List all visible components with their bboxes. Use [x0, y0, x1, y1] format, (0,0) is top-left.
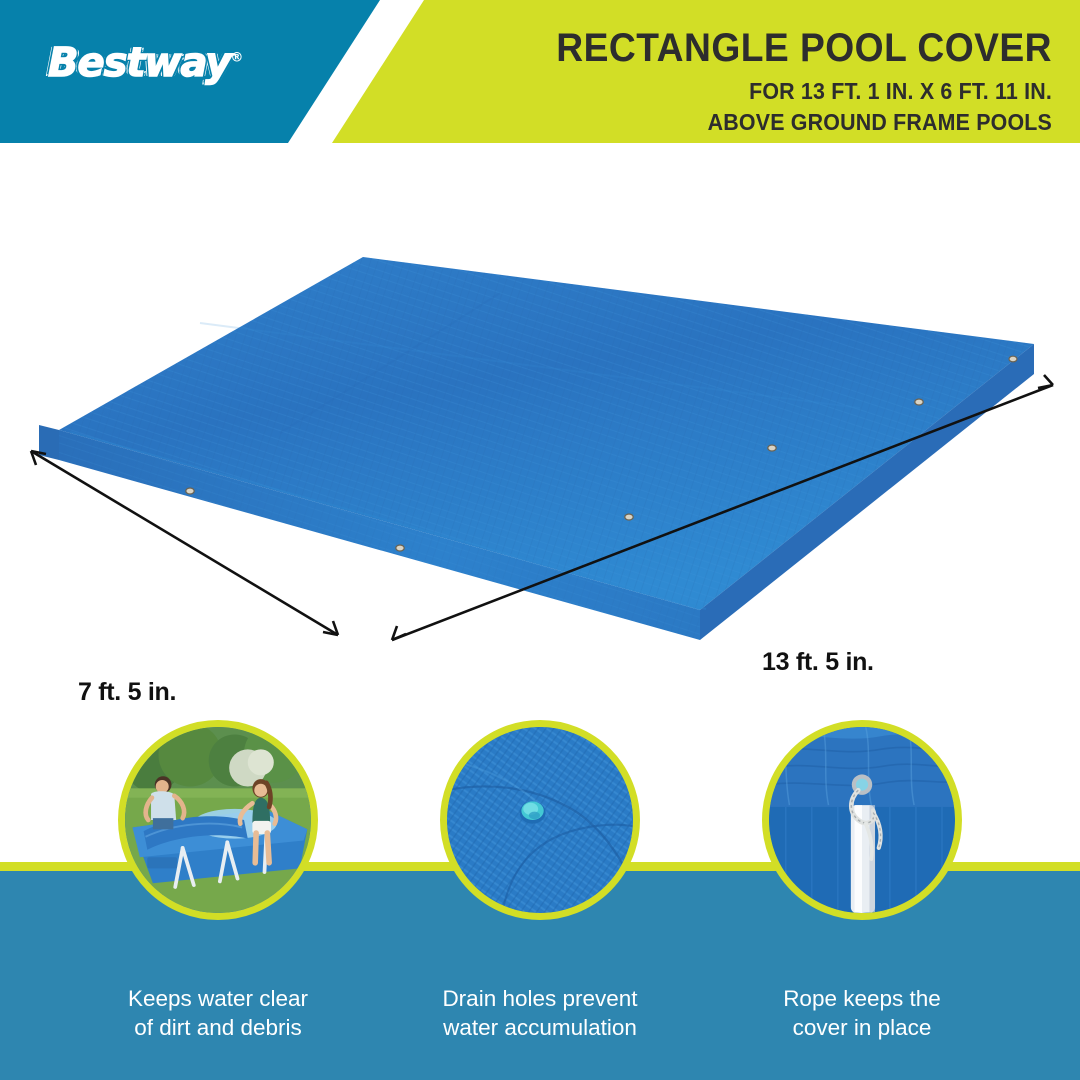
- header-banner: Bestway® RECTANGLE POOL COVER FOR 13 FT.…: [0, 0, 1080, 143]
- grommet: [1009, 356, 1017, 362]
- cover-left-end-face: [39, 425, 59, 460]
- feature-item-3: Rope keeps the cover in place: [682, 720, 1042, 1080]
- header-text-block: RECTANGLE POOL COVER FOR 13 FT. 1 IN. X …: [519, 28, 1052, 138]
- product-infographic-page: Bestway® RECTANGLE POOL COVER FOR 13 FT.…: [0, 0, 1080, 1080]
- header-subtitle-line-1: FOR 13 FT. 1 IN. X 6 FT. 11 IN.: [556, 77, 1052, 106]
- grommet: [396, 545, 404, 551]
- pool-cover-install-photo-icon: [118, 720, 318, 920]
- feature-caption-2-line-2: water accumulation: [360, 1014, 720, 1043]
- page-title: RECTANGLE POOL COVER: [556, 28, 1052, 68]
- grommet: [768, 445, 776, 451]
- feature-caption-3: Rope keeps the cover in place: [682, 985, 1042, 1043]
- feature-caption-1-line-2: of dirt and debris: [38, 1014, 398, 1043]
- header-subtitle-line-2: ABOVE GROUND FRAME POOLS: [556, 108, 1052, 137]
- rope-tie-down-photo-icon: [762, 720, 962, 920]
- bestway-logo: Bestway®: [48, 40, 242, 86]
- feature-caption-3-line-1: Rope keeps the: [682, 985, 1042, 1014]
- grommet: [625, 514, 633, 520]
- feature-caption-1: Keeps water clear of dirt and debris: [38, 985, 398, 1043]
- grommet: [915, 399, 923, 405]
- feature-caption-3-line-2: cover in place: [682, 1014, 1042, 1043]
- dimension-label-length: 13 ft. 5 in.: [762, 648, 874, 677]
- pool-cover-illustration: [0, 143, 1080, 720]
- grommet: [186, 488, 194, 494]
- feature-item-1: Keeps water clear of dirt and debris: [38, 720, 398, 1080]
- feature-item-2: Drain holes prevent water accumulation: [360, 720, 720, 1080]
- registered-trademark-icon: ®: [230, 51, 242, 66]
- drain-hole-closeup-photo-icon: [440, 720, 640, 920]
- brand-name: Bestway: [48, 40, 230, 86]
- dimension-label-width: 7 ft. 5 in.: [78, 678, 176, 707]
- feature-caption-2: Drain holes prevent water accumulation: [360, 985, 720, 1043]
- hero-product-area: 7 ft. 5 in. 13 ft. 5 in.: [0, 143, 1080, 720]
- feature-caption-2-line-1: Drain holes prevent: [360, 985, 720, 1014]
- feature-caption-1-line-1: Keeps water clear: [38, 985, 398, 1014]
